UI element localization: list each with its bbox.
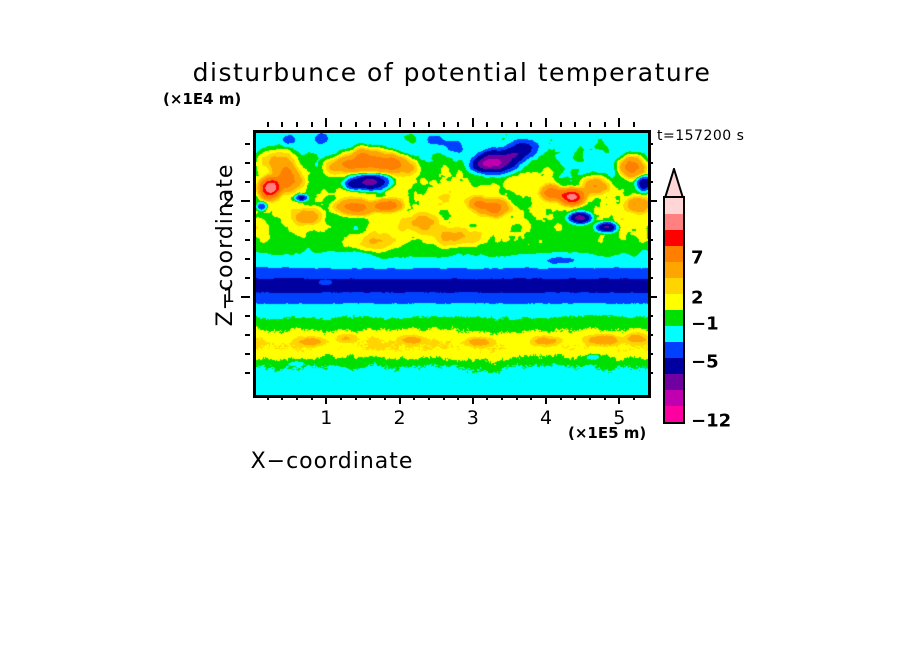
x-tick-major-top (399, 118, 401, 127)
x-tick-major (545, 395, 547, 404)
x-tick-minor-top (574, 122, 576, 127)
y-tick-major (241, 200, 250, 202)
colorbar-band (665, 342, 683, 358)
x-tick-minor (457, 395, 459, 400)
x-tick-minor-top (443, 122, 445, 127)
y-tick-minor (245, 372, 250, 374)
y-tick-minor-right (648, 220, 653, 222)
colorbar-tick-label: 7 (691, 247, 704, 268)
y-tick-minor-right (648, 181, 653, 183)
x-tick-minor-top (281, 122, 283, 127)
colorbar-tick-label: 2 (691, 288, 704, 309)
x-tick-major-top (618, 118, 620, 127)
x-tick-minor-top (369, 122, 371, 127)
x-tick-minor-top (413, 122, 415, 127)
x-tick-minor (355, 395, 357, 400)
colorbar-band (665, 278, 683, 294)
x-tick-minor-top (530, 122, 532, 127)
x-tick-major (472, 395, 474, 404)
x-tick-minor-top (486, 122, 488, 127)
y-tick-minor-right (648, 353, 653, 355)
x-tick-minor (384, 395, 386, 400)
colorbar-band (665, 390, 683, 406)
x-tick-minor-top (501, 122, 503, 127)
y-tick-minor (245, 162, 250, 164)
x-tick-minor-top (589, 122, 591, 127)
colorbar-band (665, 230, 683, 246)
x-tick-minor-top (633, 122, 635, 127)
x-tick-minor (633, 395, 635, 400)
colorbar-band (665, 294, 683, 310)
x-tick-minor (413, 395, 415, 400)
x-tick-minor-top (340, 122, 342, 127)
x-tick-minor-top (604, 122, 606, 127)
x-tick-minor (311, 395, 313, 400)
x-tick-label: 1 (311, 407, 341, 429)
y-tick-major (241, 296, 250, 298)
x-tick-minor-top (355, 122, 357, 127)
x-tick-minor (267, 395, 269, 400)
x-tick-minor (296, 395, 298, 400)
contour-field-canvas (256, 133, 648, 395)
y-tick-minor (245, 258, 250, 260)
y-tick-minor (245, 143, 250, 145)
colorbar-band (665, 262, 683, 278)
y-tick-minor-right (648, 315, 653, 317)
colorbar-band (665, 246, 683, 262)
x-tick-major-top (472, 118, 474, 127)
x-tick-major-top (325, 118, 327, 127)
y-tick-minor-right (648, 372, 653, 374)
x-tick-minor (501, 395, 503, 400)
x-tick-minor (340, 395, 342, 400)
y-tick-major-right (648, 296, 657, 298)
x-tick-minor-top (384, 122, 386, 127)
x-tick-minor-top (428, 122, 430, 127)
x-tick-major (399, 395, 401, 404)
colorbar-band (665, 198, 683, 214)
x-tick-major-top (545, 118, 547, 127)
x-tick-minor (589, 395, 591, 400)
y-tick-minor-right (648, 143, 653, 145)
page-title: disturbunce of potential temperature (0, 58, 904, 87)
x-tick-minor (369, 395, 371, 400)
x-tick-minor-top (560, 122, 562, 127)
y-tick-minor (245, 334, 250, 336)
x-tick-minor (604, 395, 606, 400)
y-tick-minor (245, 353, 250, 355)
colorbar-band (665, 214, 683, 230)
colorbar-band (665, 374, 683, 390)
x-tick-minor-top (296, 122, 298, 127)
x-tick-label: 2 (385, 407, 415, 429)
y-tick-minor-right (648, 334, 653, 336)
time-stamp-label: t=157200 s (657, 128, 744, 144)
colorbar-band (665, 358, 683, 374)
colorbar-tick-label: −12 (691, 410, 731, 431)
x-axis-unit-label: (×1E5 m) (568, 424, 646, 442)
y-tick-minor (245, 239, 250, 241)
y-tick-minor (245, 277, 250, 279)
x-tick-minor (428, 395, 430, 400)
x-tick-minor (443, 395, 445, 400)
y-tick-minor-right (648, 162, 653, 164)
y-tick-minor-right (648, 277, 653, 279)
x-tick-minor-top (267, 122, 269, 127)
y-tick-major-right (648, 200, 657, 202)
figure-canvas: disturbunce of potential temperature (×1… (0, 0, 904, 654)
y-tick-minor (245, 315, 250, 317)
contour-plot-area (253, 130, 651, 398)
colorbar-bands (663, 196, 685, 424)
x-tick-minor-top (516, 122, 518, 127)
y-tick-minor-right (648, 239, 653, 241)
x-tick-major (618, 395, 620, 404)
x-tick-minor (560, 395, 562, 400)
y-axis-title: Z−coordinate (213, 125, 238, 365)
y-tick-minor (245, 220, 250, 222)
x-tick-minor (486, 395, 488, 400)
colorbar-band (665, 310, 683, 326)
x-tick-minor (516, 395, 518, 400)
x-tick-label: 4 (531, 407, 561, 429)
x-tick-minor (574, 395, 576, 400)
colorbar-band (665, 326, 683, 342)
x-tick-minor-top (311, 122, 313, 127)
colorbar-arrow-icon (663, 168, 685, 198)
y-tick-minor-right (648, 258, 653, 260)
x-axis-title: X−coordinate (0, 449, 904, 474)
x-tick-major (325, 395, 327, 404)
y-axis-unit-label: (×1E4 m) (163, 90, 241, 108)
x-tick-minor-top (457, 122, 459, 127)
y-tick-minor (245, 181, 250, 183)
colorbar-tick-label: −1 (691, 314, 719, 335)
x-tick-minor (530, 395, 532, 400)
colorbar-band (665, 406, 683, 422)
x-tick-label: 3 (458, 407, 488, 429)
colorbar-tick-label: −5 (691, 352, 719, 373)
x-tick-minor (281, 395, 283, 400)
